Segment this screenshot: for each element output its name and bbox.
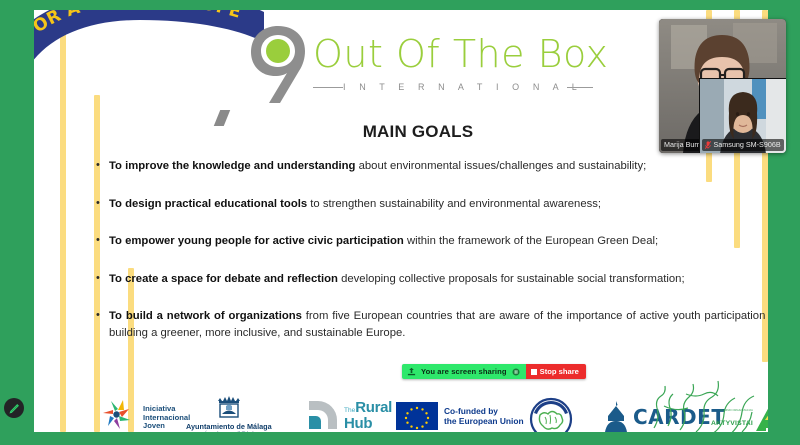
share-status-group: You are screen sharing [402, 364, 526, 379]
stop-share-label: Stop share [540, 367, 579, 376]
logo-ayuntamiento-de-malaga: Ayuntamiento de Málaga Área de Sostenibi… [186, 396, 272, 432]
annotate-button[interactable] [4, 398, 24, 418]
cardet-mark-icon [602, 400, 630, 432]
goal-rest: within the framework of the European Gre… [404, 235, 658, 247]
eu-line1: Co-funded by [444, 406, 524, 417]
malaga-crest-icon [214, 396, 244, 420]
list-item: To design practical educational tools to… [96, 196, 768, 213]
list-item: To empower young people for active civic… [96, 233, 768, 250]
out-of-the-box-logo: Out Of The Box I N T E R N A T I O N A L [247, 26, 627, 102]
malaga-line2: Área de Sostenibilidad [204, 431, 254, 432]
green-europe-ribbon: UNITED FOR A GREEN EUROPE [34, 10, 272, 126]
pause-share-icon[interactable] [512, 368, 520, 376]
list-item: To create a space for debate and reflect… [96, 271, 768, 288]
logo-rule-right [567, 87, 593, 88]
rural-word: Rural [355, 399, 392, 416]
zoom-screen-share-view: UNITED FOR A GREEN EUROPE Out Of The Box… [0, 0, 800, 445]
goal-bold: To build a network of organizations [109, 310, 302, 322]
decor-stripe [60, 10, 66, 432]
list-item: To improve the knowledge and understandi… [96, 158, 768, 175]
logo-wordmark: Out Of The Box [313, 32, 609, 76]
people-star-icon [96, 398, 138, 432]
goal-rest: about environmental issues/challenges an… [355, 160, 646, 172]
list-item: To build a network of organizations from… [96, 308, 768, 341]
logo-nine-mark [247, 24, 309, 104]
logo-subtitle: I N T E R N A T I O N A L [343, 82, 582, 92]
participant-name-tag: Samsung SM-S906B [702, 139, 784, 152]
rural-hub-mark-icon [306, 398, 340, 432]
share-status-label: You are screen sharing [421, 367, 507, 376]
malaga-line1: Ayuntamiento de Málaga [186, 422, 272, 431]
rural-the: The [344, 407, 355, 414]
hub-word: Hub [344, 416, 392, 431]
green-europe-circle-icon [529, 397, 573, 432]
video-thumbnail-panel[interactable]: Marija Bumbak [659, 19, 786, 153]
goal-bold: To empower young people for active civic… [109, 235, 404, 247]
eu-flag-icon [396, 402, 438, 430]
stop-square-icon [531, 369, 537, 375]
video-tile-participant[interactable]: Samsung SM-S906B [699, 78, 786, 153]
goal-bold: To improve the knowledge and understandi… [109, 160, 355, 172]
logo-rule-left [313, 87, 343, 88]
mic-muted-icon [705, 141, 711, 149]
stop-share-button[interactable]: Stop share [526, 364, 586, 379]
europe-map-outline [646, 354, 766, 432]
logo-the-rural-hub: TheRural Hub [306, 398, 392, 432]
eu-line2: the European Union [444, 416, 524, 427]
goal-bold: To create a space for debate and reflect… [109, 273, 338, 285]
iij-line3: Joven [143, 422, 190, 431]
participant-name: Samsung SM-S906B [714, 140, 781, 149]
slide-canvas: UNITED FOR A GREEN EUROPE Out Of The Box… [34, 10, 768, 432]
pencil-annotate-icon [9, 403, 20, 414]
screen-share-toolbar[interactable]: You are screen sharing Stop share [402, 364, 586, 379]
goal-rest: developing collective proposals for sust… [338, 273, 685, 285]
screen-share-icon [407, 367, 416, 376]
logo-eu-cofunded: Co-funded by the European Union [396, 402, 524, 430]
goal-bold: To design practical educational tools [109, 198, 307, 210]
goal-rest: to strengthen sustainability and environ… [307, 198, 601, 210]
logo-iniciativa-internacional-joven: Iniciativa Internacional Joven [96, 398, 190, 432]
goals-list: To improve the knowledge and understandi… [96, 158, 768, 362]
logo-green-europe-circle [529, 397, 573, 432]
